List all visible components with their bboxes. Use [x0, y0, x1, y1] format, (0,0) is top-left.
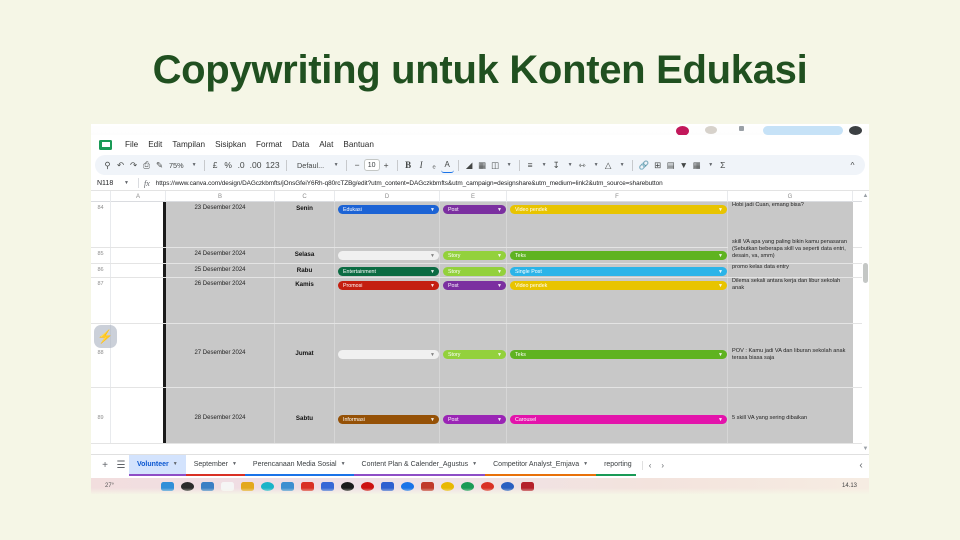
sheet-tab-label: Volunteer	[137, 461, 169, 468]
share-button[interactable]	[763, 126, 843, 135]
merge-cells-icon[interactable]: ◫	[489, 158, 502, 173]
cell-g-notes[interactable]: 5 skill VA yang sering dibaikan	[728, 388, 853, 443]
cell-a[interactable]	[111, 324, 166, 387]
divider	[346, 160, 347, 171]
scroll-down-icon[interactable]: ▼	[863, 446, 869, 452]
table-row[interactable]: 88 27 Desember 2024 Jumat ▼ Story ▼ Teks	[91, 324, 869, 388]
avatar	[676, 126, 689, 135]
cell-f-format[interactable]: Carousel ▼	[507, 388, 728, 443]
dropdown-chip-type[interactable]: Post ▼	[443, 205, 506, 214]
zoom-chevron-down-icon[interactable]: ▼	[187, 158, 200, 173]
menu-item-edit[interactable]: Edit	[143, 139, 167, 150]
chevron-down-icon[interactable]: ▼	[341, 461, 346, 467]
cell-g-notes[interactable]: POV : Kamu jadi VA dan liburan sekolah a…	[728, 324, 853, 387]
table-row[interactable]: 87 26 Desember 2024 Kamis Promosi ▼ Post…	[91, 278, 869, 324]
formula-input[interactable]: https://www.canva.com/design/DAGczkbmfts…	[156, 180, 663, 187]
sheet-tab-september[interactable]: September ▼	[186, 455, 245, 476]
column-header-a[interactable]: A	[111, 191, 166, 202]
dropdown-chip-category[interactable]: Promosi ▼	[338, 281, 439, 290]
chevron-down-icon[interactable]: ▼	[430, 352, 435, 358]
dropdown-chip-type[interactable]: Post ▼	[443, 281, 506, 290]
column-header-e[interactable]: E	[440, 191, 507, 202]
select-all-corner[interactable]	[91, 191, 111, 202]
chevron-down-icon[interactable]: ▼	[718, 207, 723, 213]
strikethrough-icon[interactable]: ₑ	[428, 158, 441, 173]
cell-b-date[interactable]: 28 Desember 2024	[166, 388, 275, 443]
redo-icon[interactable]: ↷	[127, 158, 140, 173]
chevron-right-icon[interactable]: ›	[661, 461, 664, 470]
chevron-down-icon[interactable]: ▼	[718, 352, 723, 358]
column-header-d[interactable]: D	[335, 191, 440, 202]
text-color-button[interactable]: A	[441, 158, 454, 173]
borders-icon[interactable]: ▦	[476, 158, 489, 173]
cell-f-format[interactable]: Video pendek ▼	[507, 202, 728, 247]
name-box-value: N118	[97, 180, 113, 187]
vertical-scrollbar[interactable]: ▲ ▼	[862, 191, 869, 454]
menu-item-sisipkan[interactable]: Sisipkan	[210, 139, 251, 150]
insert-chart-icon[interactable]: ▤	[664, 158, 677, 173]
chevron-down-icon[interactable]: ▼	[430, 269, 435, 275]
row-header[interactable]: 89	[91, 388, 111, 443]
toolbar: ⚲ ↶ ↷ ⎙ ✎ 75% ▼ £ % .0 .00 123 Defaul...…	[95, 155, 865, 175]
cell-d-category[interactable]: Entertainment ▼	[335, 264, 440, 277]
cell-b-date[interactable]: 27 Desember 2024	[166, 324, 275, 387]
increase-decimal-icon[interactable]: .00	[248, 158, 264, 173]
italic-button[interactable]: I	[415, 158, 428, 173]
print-icon[interactable]: ⎙	[140, 158, 153, 173]
chevron-down-icon[interactable]: ▼	[497, 207, 502, 213]
lightning-badge-icon: ⚡	[94, 325, 117, 348]
chevron-down-icon[interactable]: ▼	[173, 461, 178, 467]
dropdown-chip-category[interactable]: ▼	[338, 251, 439, 260]
chevron-left-icon[interactable]: ‹	[649, 461, 652, 470]
functions-icon[interactable]: ▦	[690, 158, 703, 173]
chip-label: Story	[448, 269, 460, 275]
cell-d-category[interactable]: ▼	[335, 324, 440, 387]
comment-history-icon	[739, 126, 744, 131]
chip-label: Promosi	[343, 283, 362, 289]
spreadsheet-screenshot: File Edit Tampilan Sisipkan Format Data …	[91, 124, 869, 494]
insert-comment-icon[interactable]: ⊞	[651, 158, 664, 173]
sheet-tab-label: September	[194, 461, 228, 468]
column-header-f[interactable]: F	[507, 191, 728, 202]
cell-e-type[interactable]: Story ▼	[440, 248, 507, 263]
chevron-down-icon[interactable]: ▼	[497, 352, 502, 358]
halign-chevron-down-icon[interactable]: ▼	[537, 158, 550, 173]
scrollbar-thumb[interactable]	[863, 263, 868, 283]
cell-a[interactable]	[111, 388, 166, 443]
chevron-down-icon[interactable]: ▼	[430, 283, 435, 289]
chip-label: Post	[448, 417, 459, 423]
divider	[519, 160, 520, 171]
table-row[interactable]: 89 28 Desember 2024 Sabtu Informasi ▼ Po…	[91, 388, 869, 444]
avatar	[849, 126, 862, 135]
dropdown-chip-type[interactable]: Post ▼	[443, 415, 506, 424]
sheet-tab-label: Competitor Analyst_Emjava	[493, 461, 579, 468]
font-family-select[interactable]: Defaul...	[291, 158, 329, 173]
chevron-down-icon[interactable]: ▼	[718, 253, 723, 259]
sheet-tab-competitor-analyst-emjava[interactable]: Competitor Analyst_Emjava ▼	[485, 455, 596, 476]
divider	[397, 160, 398, 171]
dropdown-chip-category[interactable]: Edukasi ▼	[338, 205, 439, 214]
chip-label: Carousel	[515, 417, 536, 423]
formula-bar: N118 ▼ fx https://www.canva.com/design/D…	[91, 176, 869, 191]
sum-button[interactable]: Σ	[716, 158, 729, 173]
chevron-down-icon[interactable]: ▼	[583, 461, 588, 467]
chip-label: Video pendek	[515, 207, 547, 213]
divider	[138, 178, 139, 188]
horizontal-align-icon[interactable]: ≡	[524, 158, 537, 173]
menu-item-data[interactable]: Data	[287, 139, 314, 150]
search-icon[interactable]: ⚲	[101, 158, 114, 173]
cell-b-date[interactable]: 26 Desember 2024	[166, 278, 275, 323]
dropdown-chip-type[interactable]: Story ▼	[443, 251, 506, 260]
dropdown-chip-type[interactable]: Story ▼	[443, 267, 506, 276]
chevron-down-icon[interactable]: ▼	[497, 269, 502, 275]
sheet-tab-volunteer[interactable]: Volunteer ▼	[129, 455, 186, 476]
menu-item-bantuan[interactable]: Bantuan	[338, 139, 379, 150]
cell-f-format[interactable]: Single Post ▼	[507, 264, 728, 277]
decrease-decimal-icon[interactable]: .0	[235, 158, 248, 173]
valign-chevron-down-icon[interactable]: ▼	[563, 158, 576, 173]
cell-e-type[interactable]: Post ▼	[440, 388, 507, 443]
cell-c-day[interactable]: Sabtu	[275, 388, 335, 443]
dropdown-chip-format[interactable]: Video pendek ▼	[510, 281, 727, 290]
chevron-down-icon[interactable]: ▼	[472, 461, 477, 467]
bold-button[interactable]: B	[402, 158, 415, 173]
tab-navigation: ‹ ›	[642, 461, 664, 470]
chevron-down-icon[interactable]: ▼	[718, 283, 723, 289]
spreadsheet-grid[interactable]: A B C D E F G 84 23 Desember 2024 Senin …	[91, 191, 869, 454]
currency-icon[interactable]: £	[209, 158, 222, 173]
font-size-decrease-button[interactable]: −	[351, 158, 364, 173]
cell-c-day[interactable]: Selasa	[275, 248, 335, 263]
hamburger-menu-icon[interactable]: ☰	[113, 460, 129, 471]
cell-e-type[interactable]: Story ▼	[440, 324, 507, 387]
name-box[interactable]: N118 ▼	[91, 180, 133, 187]
percent-icon[interactable]: %	[222, 158, 235, 173]
wrap-chevron-down-icon[interactable]: ▼	[589, 158, 602, 173]
fx-icon: fx	[144, 179, 150, 188]
chip-label: Story	[448, 352, 460, 358]
chevron-down-icon[interactable]: ▼	[718, 269, 723, 275]
font-chevron-down-icon[interactable]: ▼	[329, 158, 342, 173]
chip-label: Post	[448, 283, 459, 289]
divider	[286, 160, 287, 171]
font-size-increase-button[interactable]: +	[380, 158, 393, 173]
chevron-down-icon[interactable]: ▼	[232, 461, 237, 467]
cell-f-format[interactable]: Teks ▼	[507, 324, 728, 387]
cell-g-notes[interactable]: Dilema sekali antara kerja dan libur sek…	[728, 278, 853, 323]
vertical-align-icon[interactable]: ↧	[550, 158, 563, 173]
chevron-up-icon[interactable]: ^	[846, 158, 859, 173]
cell-c-day[interactable]: Kamis	[275, 278, 335, 323]
cell-e-type[interactable]: Post ▼	[440, 278, 507, 323]
chevron-down-icon[interactable]: ▼	[497, 283, 502, 289]
chip-label: Edukasi	[343, 207, 362, 213]
chip-label: Single Post	[515, 269, 542, 275]
cell-d-category[interactable]: Edukasi ▼	[335, 202, 440, 247]
divider	[204, 160, 205, 171]
text-wrap-icon[interactable]: ⇿	[576, 158, 589, 173]
dropdown-chip-format[interactable]: Teks ▼	[510, 251, 727, 260]
cell-a[interactable]	[111, 248, 166, 263]
collapse-chevron-left-icon[interactable]: ‹	[853, 460, 869, 471]
sheet-tab-label: reporting	[604, 461, 632, 468]
undo-icon[interactable]: ↶	[114, 158, 127, 173]
chevron-down-icon[interactable]: ▼	[430, 417, 435, 423]
divider	[458, 160, 459, 171]
chevron-down-icon[interactable]: ▼	[430, 207, 435, 213]
fill-color-icon[interactable]: ◢	[463, 158, 476, 173]
create-filter-icon[interactable]: ▼	[677, 158, 690, 173]
table-row[interactable]: 85 24 Desember 2024 Selasa ▼ Story ▼ Tek…	[91, 248, 869, 264]
menu-item-format[interactable]: Format	[251, 139, 287, 150]
share-bar-faded	[91, 124, 869, 135]
chip-label: Post	[448, 207, 459, 213]
chip-label: Teks	[515, 253, 526, 259]
column-header-g[interactable]: G	[728, 191, 853, 202]
dropdown-chip-type[interactable]: Story ▼	[443, 350, 506, 359]
row-header[interactable]: 84	[91, 202, 111, 247]
cell-g-notes[interactable]: skill VA apa yang paling bikin kamu pena…	[728, 239, 853, 263]
dropdown-chip-format[interactable]: Video pendek ▼	[510, 205, 727, 214]
cell-d-category[interactable]: Informasi ▼	[335, 388, 440, 443]
cell-c-day[interactable]: Rabu	[275, 264, 335, 277]
sheet-tab-bar: + ☰ Volunteer ▼ September ▼ Perencanaan …	[91, 454, 869, 475]
cell-e-type[interactable]: Story ▼	[440, 264, 507, 277]
menu-item-tampilan[interactable]: Tampilan	[167, 139, 210, 150]
chip-label: Entertainment	[343, 269, 376, 275]
cell-a[interactable]	[111, 278, 166, 323]
name-box-chevron-down-icon[interactable]: ▼	[124, 180, 129, 186]
cell-f-format[interactable]: Teks ▼	[507, 248, 728, 263]
chevron-down-icon[interactable]: ▼	[497, 253, 502, 259]
row-header[interactable]: 87	[91, 278, 111, 323]
sheet-tab-label: Perencanaan Media Sosial	[253, 461, 337, 468]
cell-g-notes[interactable]: promo kelas data entry	[728, 264, 853, 277]
dropdown-chip-format[interactable]: Single Post ▼	[510, 267, 727, 276]
zoom-level[interactable]: 75%	[166, 158, 187, 173]
chip-label: Story	[448, 253, 460, 259]
cell-d-category[interactable]: ▼	[335, 248, 440, 263]
column-header-b[interactable]: B	[166, 191, 275, 202]
chip-label: Video pendek	[515, 283, 547, 289]
dropdown-chip-category[interactable]: Informasi ▼	[338, 415, 439, 424]
sheet-tab-content-plan-calender-agustus[interactable]: Content Plan & Calender_Agustus ▼	[354, 455, 486, 476]
cell-c-day[interactable]: Jumat	[275, 324, 335, 387]
text-rotation-icon[interactable]: △	[602, 158, 615, 173]
cell-c-day[interactable]: Senin	[275, 202, 335, 247]
chip-label: Teks	[515, 352, 526, 358]
column-header-c[interactable]: C	[275, 191, 335, 202]
chevron-down-icon[interactable]: ▼	[497, 417, 502, 423]
menu-bar: File Edit Tampilan Sisipkan Format Data …	[91, 135, 869, 154]
scroll-up-icon[interactable]: ▲	[863, 193, 869, 199]
sheet-tab-perencanaan-media-sosial[interactable]: Perencanaan Media Sosial ▼	[245, 455, 354, 476]
cell-e-type[interactable]: Post ▼	[440, 202, 507, 247]
google-sheets-icon	[99, 140, 112, 150]
menu-item-alat[interactable]: Alat	[314, 139, 338, 150]
functions-chevron-down-icon[interactable]: ▼	[703, 158, 716, 173]
chevron-down-icon[interactable]: ▼	[718, 417, 723, 423]
chevron-down-icon[interactable]: ▼	[430, 253, 435, 259]
more-formats-button[interactable]: 123	[263, 158, 281, 173]
insert-link-icon[interactable]: 🔗	[637, 158, 652, 173]
cell-a[interactable]	[111, 264, 166, 277]
cell-b-date[interactable]: 23 Desember 2024	[166, 202, 275, 247]
cell-b-date[interactable]: 24 Desember 2024	[166, 248, 275, 263]
table-row[interactable]: 86 25 Desember 2024 Rabu Entertainment ▼…	[91, 264, 869, 278]
rotation-chevron-down-icon[interactable]: ▼	[615, 158, 628, 173]
column-headers: A B C D E F G	[91, 191, 869, 202]
menu-item-file[interactable]: File	[120, 139, 143, 150]
dropdown-chip-category[interactable]: Entertainment ▼	[338, 267, 439, 276]
plus-icon[interactable]: +	[97, 460, 113, 471]
avatar	[705, 126, 717, 134]
paint-format-icon[interactable]: ✎	[153, 158, 166, 173]
cell-a[interactable]	[111, 202, 166, 247]
sheet-tab-reporting[interactable]: reporting	[596, 455, 636, 476]
chip-label: Informasi	[343, 417, 365, 423]
cell-b-date[interactable]: 25 Desember 2024	[166, 264, 275, 277]
cell-f-format[interactable]: Video pendek ▼	[507, 278, 728, 323]
dropdown-chip-format[interactable]: Carousel ▼	[510, 415, 727, 424]
dropdown-chip-format[interactable]: Teks ▼	[510, 350, 727, 359]
divider	[632, 160, 633, 171]
page-title: Copywriting untuk Konten Edukasi	[0, 48, 960, 93]
sheet-tab-label: Content Plan & Calender_Agustus	[362, 461, 469, 468]
taskbar-fade-overlay	[91, 488, 869, 496]
font-size-input[interactable]: 10	[364, 159, 380, 171]
row-header[interactable]: 86	[91, 264, 111, 277]
dropdown-chip-category[interactable]: ▼	[338, 350, 439, 359]
cell-d-category[interactable]: Promosi ▼	[335, 278, 440, 323]
merge-chevron-down-icon[interactable]: ▼	[502, 158, 515, 173]
row-header[interactable]: 85	[91, 248, 111, 263]
